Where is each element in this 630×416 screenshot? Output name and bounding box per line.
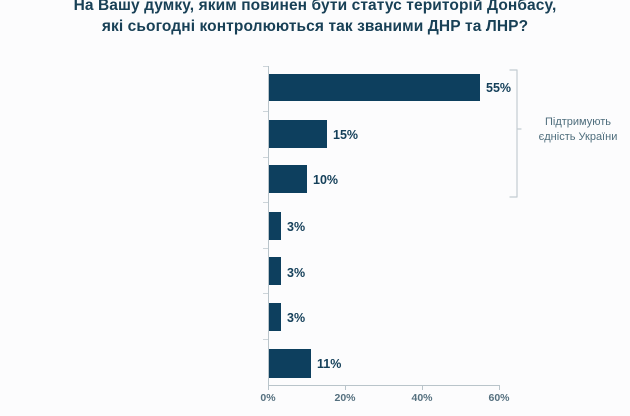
plot-area: 0% 20% 40% 60% Бути частиною України, як…	[0, 0, 630, 416]
y-tick-mark-6	[263, 339, 268, 340]
y-tick-mark-1	[263, 111, 268, 112]
y-tick-mark-5	[263, 293, 268, 294]
bar-value-label-1: 15%	[333, 128, 358, 142]
x-axis-line	[268, 385, 499, 386]
x-tick-label-2: 40%	[411, 392, 432, 404]
x-tick-mark-60	[499, 385, 500, 390]
x-tick-mark-0	[268, 385, 269, 390]
bar-1	[269, 120, 327, 148]
x-tick-label-0: 0%	[260, 392, 275, 404]
bar-value-label-2: 10%	[313, 173, 338, 187]
bar-value-label-5: 3%	[287, 311, 305, 325]
y-tick-mark-0	[263, 66, 268, 67]
x-tick-label-3: 60%	[488, 392, 509, 404]
bar-0	[269, 74, 480, 101]
chart-container: На Вашу думку, яким повинен бути статус …	[0, 0, 630, 416]
unity-brace-icon	[508, 69, 522, 198]
x-tick-label-1: 20%	[334, 392, 355, 404]
unity-annotation-label: Підтримують єдність України	[528, 115, 628, 145]
y-tick-mark-2	[263, 157, 268, 158]
x-tick-mark-40	[422, 385, 423, 390]
bar-2	[269, 165, 307, 193]
bar-value-label-3: 3%	[287, 220, 305, 234]
bar-4	[269, 257, 281, 285]
bar-3	[269, 212, 281, 240]
bar-6	[269, 349, 311, 378]
bar-value-label-4: 3%	[287, 266, 305, 280]
x-tick-mark-20	[345, 385, 346, 390]
y-tick-mark-4	[263, 248, 268, 249]
y-tick-mark-3	[263, 202, 268, 203]
bar-value-label-6: 11%	[317, 357, 341, 371]
bar-5	[269, 303, 281, 331]
